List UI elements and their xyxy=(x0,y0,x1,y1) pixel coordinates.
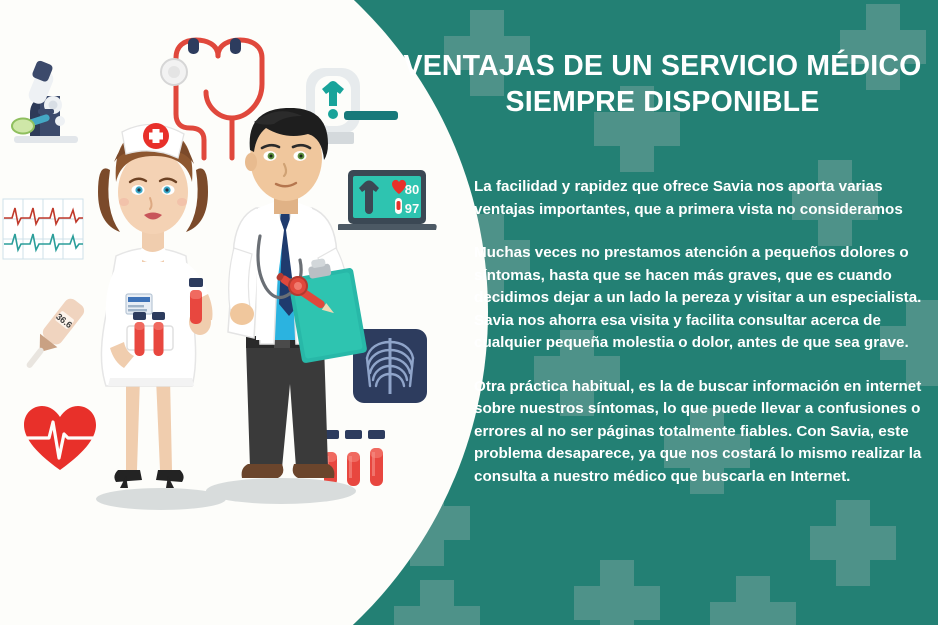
vitals-oxygen: 97 xyxy=(405,201,419,216)
headline-line-2: SIEMPRE DISPONIBLE xyxy=(400,84,925,120)
doctor-character xyxy=(212,108,382,496)
page-title: VENTAJAS DE UN SERVICIO MÉDICO SIEMPRE D… xyxy=(400,48,925,120)
paragraph-1: La facilidad y rapidez que ofrece Savia … xyxy=(474,176,926,221)
medical-illustration: 36.6 xyxy=(0,0,470,625)
paragraph-2: Muchas veces no prestamos atención a peq… xyxy=(474,242,926,355)
headline-line-1: VENTAJAS DE UN SERVICIO MÉDICO xyxy=(403,50,921,82)
vitals-heart-rate: 80 xyxy=(405,182,419,197)
body-copy: La facilidad y rapidez que ofrece Savia … xyxy=(474,176,926,488)
paragraph-3: Otra práctica habitual, es la de buscar … xyxy=(474,376,926,489)
poster-canvas: VENTAJAS DE UN SERVICIO MÉDICO SIEMPRE D… xyxy=(0,0,938,625)
